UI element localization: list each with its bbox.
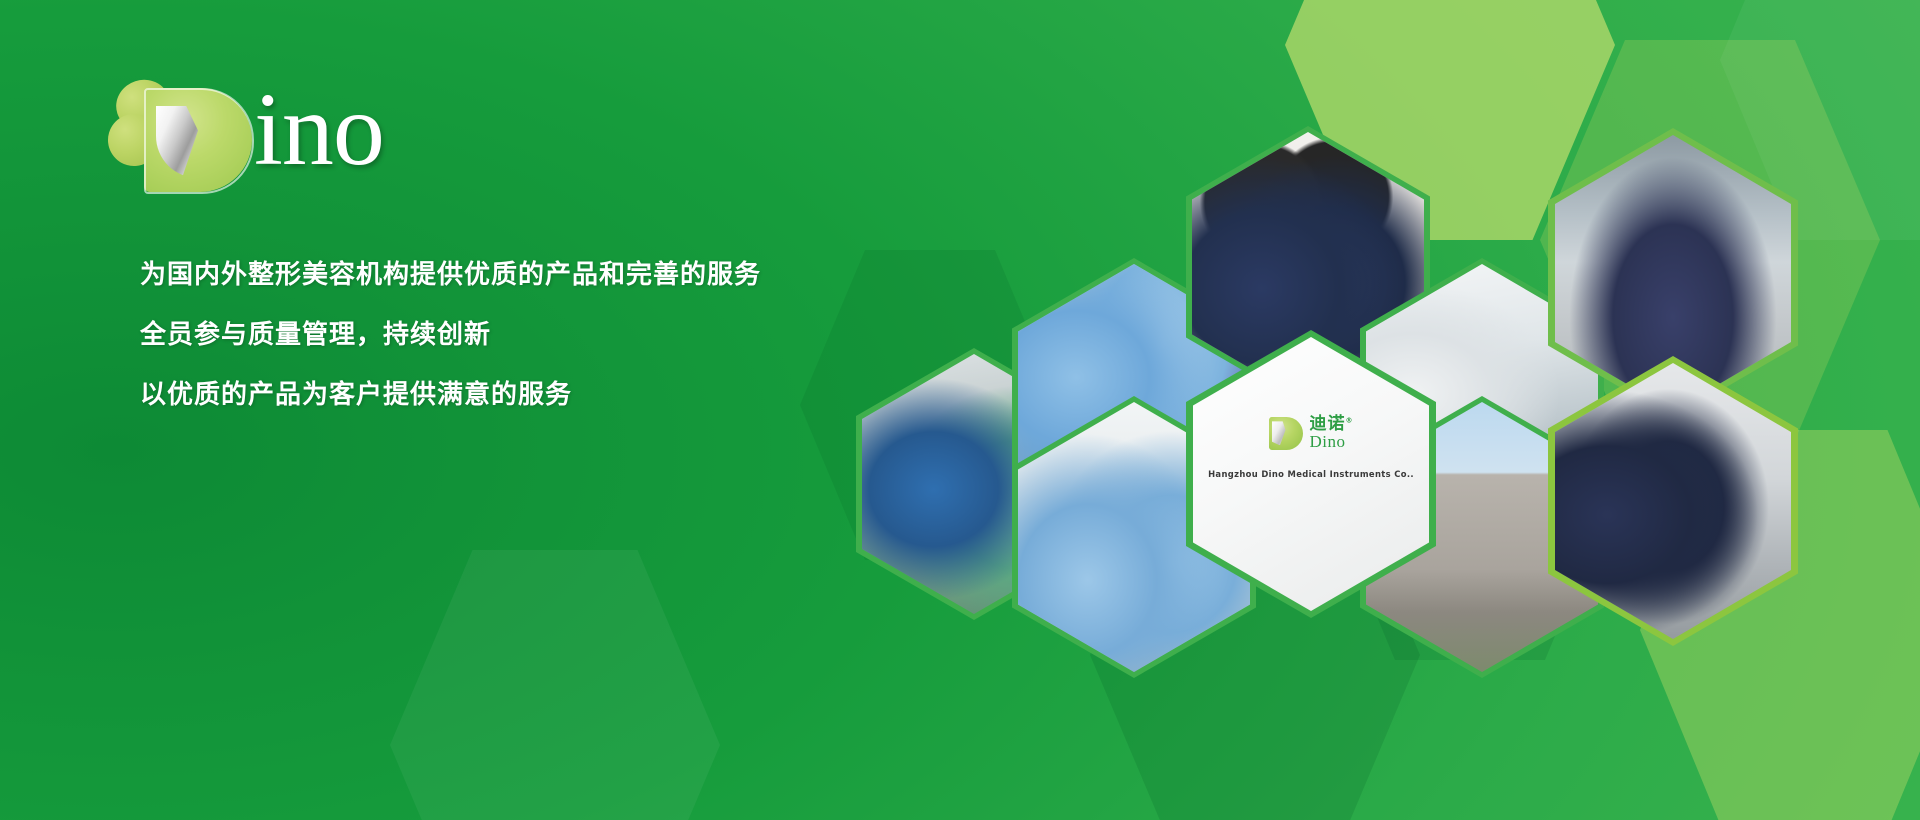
bg-hexagon-dark-2 [390, 550, 720, 820]
brand-mark-cn: 迪诺® [1310, 414, 1354, 434]
logo-wordmark: ino [254, 78, 384, 182]
brand-hexagon[interactable]: 迪诺® Dino Hangzhou Dino Medical Instrumen… [1186, 330, 1436, 618]
registered-trademark-icon: ® [1346, 417, 1354, 425]
brand-mark-en: Dino [1310, 432, 1346, 451]
hero-banner: ino 为国内外整形美容机构提供优质的产品和完善的服务 全员参与质量管理，持续创… [0, 0, 1920, 820]
slogan-line-3: 以优质的产品为客户提供满意的服务 [140, 382, 900, 408]
slogan-line-2: 全员参与质量管理，持续创新 [140, 322, 900, 348]
slogan-line-1: 为国内外整形美容机构提供优质的产品和完善的服务 [140, 262, 900, 288]
slogan-list: 为国内外整形美容机构提供优质的产品和完善的服务 全员参与质量管理，持续创新 以优… [140, 262, 900, 442]
brand-d-leaf-icon [1269, 417, 1303, 450]
brand-logo[interactable]: ino [108, 72, 538, 192]
dino-d-leaf-icon [144, 88, 252, 192]
brand-caption: Hangzhou Dino Medical Instruments Co.. [1186, 469, 1436, 479]
brand-mark: 迪诺® Dino [1269, 416, 1354, 451]
